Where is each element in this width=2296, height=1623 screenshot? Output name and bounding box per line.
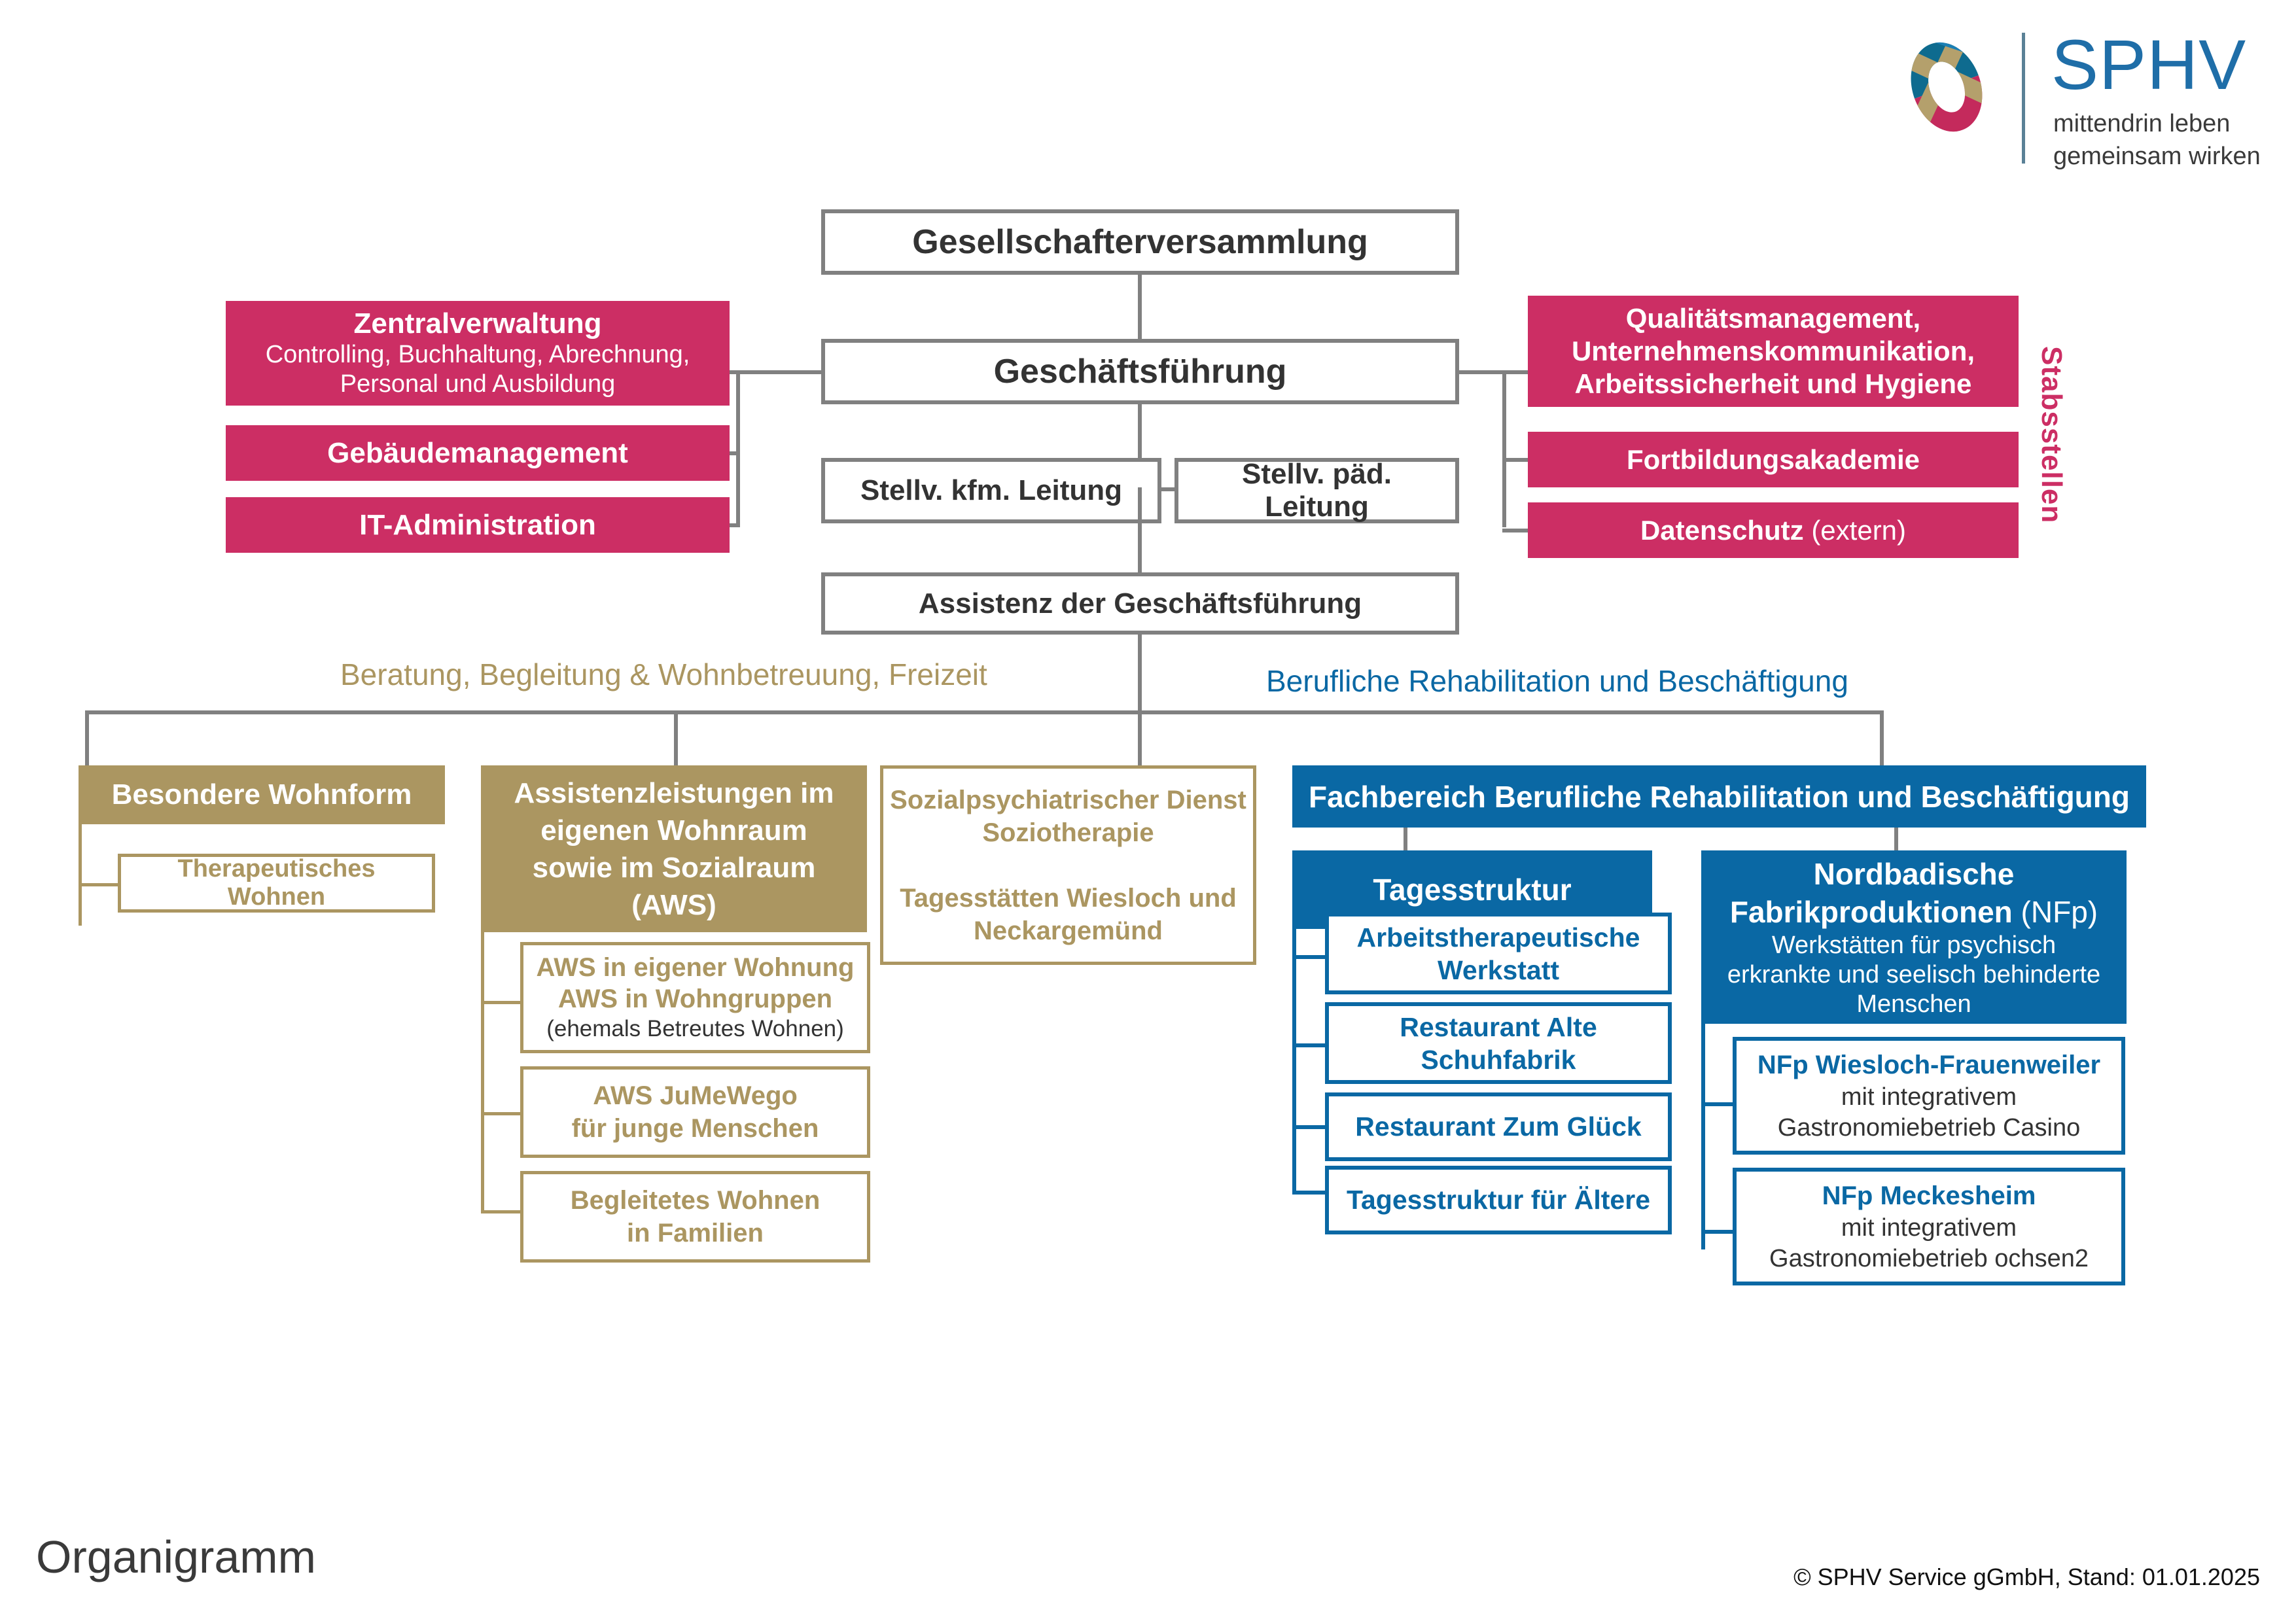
- connector-assistenz-down: [1138, 635, 1142, 713]
- node-qualitaetsmanagement[interactable]: Qualitätsmanagement, Unternehmenskommuni…: [1528, 296, 2019, 407]
- node-zentralverwaltung-sub-2: Personal und Ausbildung: [340, 370, 615, 399]
- node-fachbereich-berufliche-rehabilitation[interactable]: Fachbereich Berufliche Rehabilitation un…: [1292, 765, 2146, 828]
- node-nfp-title-abbr: (NFp): [2013, 895, 2098, 929]
- connector-right-to-fortbildungsakademie: [1502, 458, 1528, 462]
- node-ts-child2-line-1: Restaurant Alte: [1400, 1011, 1597, 1043]
- node-datenschutz[interactable]: Datenschutz (extern): [1528, 502, 2019, 558]
- stabsstellen-group-label: Stabsstellen: [2032, 298, 2071, 572]
- connector-distribution-bar-right: [1138, 710, 1884, 714]
- page-title: Organigramm: [36, 1531, 316, 1583]
- connector-drop-fachbereich: [1880, 710, 1884, 769]
- node-stellv-kfm-label: Stellv. kfm. Leitung: [825, 474, 1157, 507]
- connector-nfp-to-child-2: [1701, 1230, 1734, 1234]
- node-nfp-wiesloch-frauenweiler[interactable]: NFp Wiesloch-Frauenweiler mit integrativ…: [1733, 1037, 2125, 1155]
- node-stellv-paed-leitung[interactable]: Stellv. päd. Leitung: [1174, 458, 1459, 523]
- node-nfp-child2-sub-2: Gastronomiebetrieb ochsen2: [1769, 1244, 2089, 1274]
- connector-drop-sozialpsychiatrisch: [1138, 710, 1142, 769]
- section-label-beratung: Beratung, Begleitung & Wohnbetreuung, Fr…: [340, 657, 987, 692]
- node-besondere-wohnform[interactable]: Besondere Wohnform: [79, 765, 445, 824]
- node-spd-line-1: Sozialpsychiatrischer Dienst: [890, 784, 1246, 816]
- node-gebaeudemanagement[interactable]: Gebäudemanagement: [226, 425, 730, 481]
- node-aws-jumewego[interactable]: AWS JuMeWego für junge Menschen: [520, 1066, 870, 1158]
- node-aws-line-1: Assistenzleistungen im: [514, 775, 834, 812]
- node-aws-child2-line-2: für junge Menschen: [572, 1112, 819, 1145]
- node-arbeitstherapeutische-werkstatt[interactable]: Arbeitstherapeutische Werkstatt: [1325, 913, 1672, 994]
- node-nfp-child2-sub-1: mit integrativem: [1841, 1213, 2017, 1244]
- connector-nfp-to-child-1: [1701, 1102, 1734, 1106]
- node-nfp-child1-sub-2: Gastronomiebetrieb Casino: [1778, 1113, 2081, 1143]
- connector-right-to-datenschutz: [1502, 529, 1528, 532]
- connector-ts-to-child-3: [1292, 1125, 1328, 1129]
- sphv-logo: SPHV mittendrin leben gemeinsam wirken: [1898, 26, 2264, 177]
- connector-gv-gf: [1138, 275, 1142, 340]
- node-gebaeudemanagement-label: Gebäudemanagement: [226, 437, 730, 470]
- section-label-berufliche: Berufliche Rehabilitation und Beschäftig…: [1266, 663, 1848, 699]
- node-aws-child3-line-2: in Familien: [627, 1217, 764, 1249]
- node-nfp-meckesheim[interactable]: NFp Meckesheim mit integrativem Gastrono…: [1733, 1168, 2125, 1285]
- node-stellv-kfm-leitung[interactable]: Stellv. kfm. Leitung: [821, 458, 1161, 523]
- node-aws-child1-note: (ehemals Betreutes Wohnen): [546, 1015, 844, 1043]
- node-spd-line-3: Tagesstätten Wiesloch und: [900, 882, 1237, 915]
- node-therapeutisches-wohnen-label: Therapeutisches Wohnen: [121, 855, 432, 911]
- node-datenschutz-suffix: (extern): [1804, 515, 1906, 546]
- node-tagesstruktur-label: Tagesstruktur: [1292, 872, 1652, 907]
- node-geschaeftsfuehrung-label: Geschäftsführung: [825, 352, 1455, 391]
- node-sozialpsychiatrischer-dienst[interactable]: Sozialpsychiatrischer Dienst Soziotherap…: [880, 765, 1256, 965]
- connector-drop-aws: [674, 710, 678, 769]
- node-nfp-title-line-2: Fabrikproduktionen: [1730, 895, 2013, 929]
- node-zentralverwaltung-sub-1: Controlling, Buchhaltung, Abrechnung,: [266, 340, 690, 370]
- node-it-administration-label: IT-Administration: [226, 509, 730, 542]
- node-aws-eigene-wohnung[interactable]: AWS in eigener Wohnung AWS in Wohngruppe…: [520, 942, 870, 1053]
- node-nfp-sub-line-2: erkrankte und seelisch behinderte: [1727, 960, 2100, 990]
- connector-right-rail: [1502, 370, 1506, 527]
- node-nfp-sub-line-1: Werkstätten für psychisch: [1772, 931, 2056, 960]
- node-nfp-child1-title: NFp Wiesloch-Frauenweiler: [1757, 1048, 2100, 1082]
- node-spd-line-2: Soziotherapie: [982, 816, 1154, 849]
- node-begleitetes-wohnen-familien[interactable]: Begleitetes Wohnen in Familien: [520, 1171, 870, 1263]
- node-gesellschafterversammlung-label: Gesellschafterversammlung: [825, 222, 1455, 262]
- connector-tagesstruktur-rail: [1292, 929, 1296, 1191]
- connector-left-rail: [736, 370, 740, 527]
- node-qm-line-2: Unternehmenskommunikation,: [1572, 335, 1975, 368]
- node-aws-line-3: sowie im Sozialraum: [533, 849, 816, 886]
- node-ts-child1-line-2: Werkstatt: [1438, 954, 1559, 986]
- node-nfp-title-line-1: Nordbadische: [1814, 855, 2015, 893]
- logo-tagline-1: mittendrin leben: [2053, 110, 2230, 138]
- node-aws[interactable]: Assistenzleistungen im eigenen Wohnraum …: [481, 765, 867, 932]
- node-assistenz-label: Assistenz der Geschäftsführung: [825, 587, 1455, 620]
- node-aws-line-4: (AWS): [631, 886, 716, 924]
- node-fortbildungsakademie[interactable]: Fortbildungsakademie: [1528, 432, 2019, 487]
- node-zentralverwaltung[interactable]: Zentralverwaltung Controlling, Buchhaltu…: [226, 301, 730, 406]
- connector-aws-to-child-2: [481, 1112, 523, 1115]
- node-aws-child1-line-1: AWS in eigener Wohnung: [537, 952, 855, 983]
- node-tagesstruktur-fuer-aeltere[interactable]: Tagesstruktur für Ältere: [1325, 1166, 1672, 1234]
- stabsstellen-text: Stabsstellen: [2035, 346, 2068, 523]
- connector-ts-to-child-2: [1292, 1043, 1328, 1047]
- connector-right-to-qm: [1502, 370, 1528, 374]
- sphv-logo-mark-icon: [1898, 38, 1996, 136]
- node-therapeutisches-wohnen[interactable]: Therapeutisches Wohnen: [118, 854, 435, 913]
- node-nfp-child1-sub-1: mit integrativem: [1841, 1082, 2017, 1113]
- logo-tagline-2: gemeinsam wirken: [2053, 143, 2261, 171]
- connector-aws-to-child-1: [481, 1001, 523, 1004]
- node-aws-child1-line-2: AWS in Wohngruppen: [558, 983, 832, 1015]
- node-nfp-child2-title: NFp Meckesheim: [1822, 1179, 2036, 1213]
- connector-aws-rail: [481, 932, 484, 1213]
- node-zentralverwaltung-title: Zentralverwaltung: [354, 307, 602, 340]
- node-ts-child4-line-1: Tagesstruktur für Ältere: [1329, 1185, 1668, 1215]
- node-nfp-sub-line-3: Menschen: [1856, 990, 1971, 1019]
- connector-ts-to-child-4: [1292, 1191, 1328, 1195]
- connector-nfp-rail: [1701, 1024, 1705, 1249]
- node-aws-child3-line-1: Begleitetes Wohnen: [571, 1184, 821, 1217]
- logo-divider: [2022, 33, 2025, 164]
- node-restaurant-alte-schuhfabrik[interactable]: Restaurant Alte Schuhfabrik: [1325, 1002, 1672, 1084]
- connector-bw-rail: [79, 824, 82, 926]
- connector-ts-to-child-1: [1292, 955, 1328, 959]
- node-geschaeftsfuehrung[interactable]: Geschäftsführung: [821, 339, 1459, 404]
- connector-distribution-bar-left: [85, 710, 1139, 714]
- node-ts-child2-line-2: Schuhfabrik: [1421, 1043, 1576, 1076]
- node-ts-child1-line-1: Arbeitstherapeutische: [1357, 921, 1640, 954]
- node-datenschutz-label: Datenschutz: [1640, 515, 1804, 546]
- node-ts-child3-line-1: Restaurant Zum Glück: [1329, 1111, 1668, 1142]
- connector-gf-left-stub: [736, 370, 821, 374]
- node-aws-line-2: eigenen Wohnraum: [540, 812, 807, 849]
- node-aws-child2-line-1: AWS JuMeWego: [593, 1079, 798, 1112]
- node-besondere-wohnform-label: Besondere Wohnform: [79, 778, 445, 811]
- node-stellv-paed-label: Stellv. päd. Leitung: [1178, 458, 1455, 523]
- node-restaurant-zum-glueck[interactable]: Restaurant Zum Glück: [1325, 1092, 1672, 1161]
- node-nordbadische-fabrikproduktionen[interactable]: Nordbadische Fabrikproduktionen (NFp) We…: [1701, 850, 2127, 1024]
- node-it-administration[interactable]: IT-Administration: [226, 497, 730, 553]
- logo-wordmark: SPHV: [2051, 29, 2246, 100]
- connector-aws-to-child-3: [481, 1210, 523, 1213]
- node-assistenz-geschaeftsfuehrung[interactable]: Assistenz der Geschäftsführung: [821, 572, 1459, 635]
- node-spd-line-4: Neckargemünd: [974, 915, 1163, 947]
- connector-to-assistenz: [1138, 487, 1142, 576]
- copyright-notice: © SPHV Service gGmbH, Stand: 01.01.2025: [1793, 1563, 2260, 1591]
- node-fachbereich-label: Fachbereich Berufliche Rehabilitation un…: [1292, 779, 2146, 814]
- node-qm-line-3: Arbeitssicherheit und Hygiene: [1575, 368, 1972, 400]
- connector-drop-besondere-wohnform: [85, 710, 89, 769]
- node-gesellschafterversammlung[interactable]: Gesellschafterversammlung: [821, 209, 1459, 275]
- node-qm-line-1: Qualitätsmanagement,: [1626, 302, 1920, 335]
- node-fortbildungsakademie-label: Fortbildungsakademie: [1528, 444, 2019, 476]
